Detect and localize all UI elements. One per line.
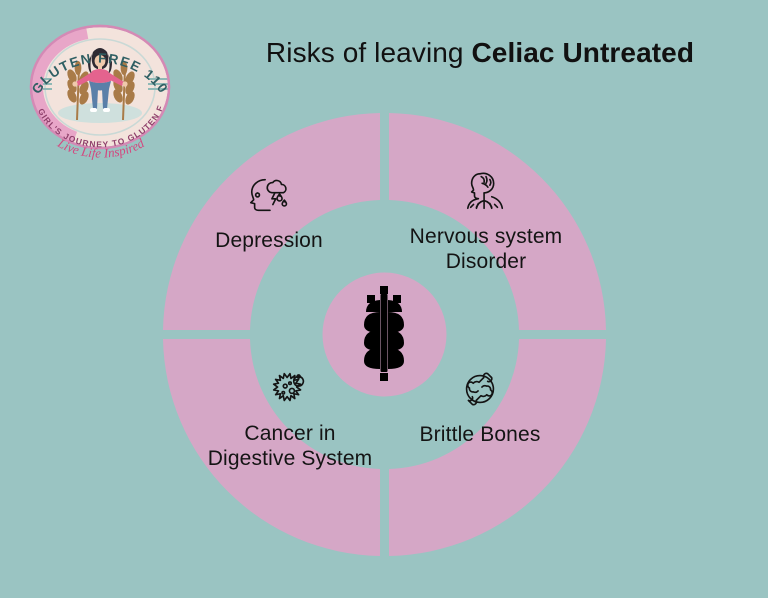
quadrant-donut-diagram xyxy=(162,112,607,557)
page-title: Risks of leaving Celiac Untreated xyxy=(200,36,760,70)
brand-logo[interactable]: GLUTEN FREE 110 ONE GIRL'S JOURNEY TO GL… xyxy=(14,16,186,164)
page-title-bold: Celiac Untreated xyxy=(471,37,694,68)
center-hub-disc xyxy=(323,273,447,397)
page-title-regular: Risks of leaving xyxy=(266,37,472,68)
infographic-canvas: GLUTEN FREE 110 ONE GIRL'S JOURNEY TO GL… xyxy=(0,0,768,598)
